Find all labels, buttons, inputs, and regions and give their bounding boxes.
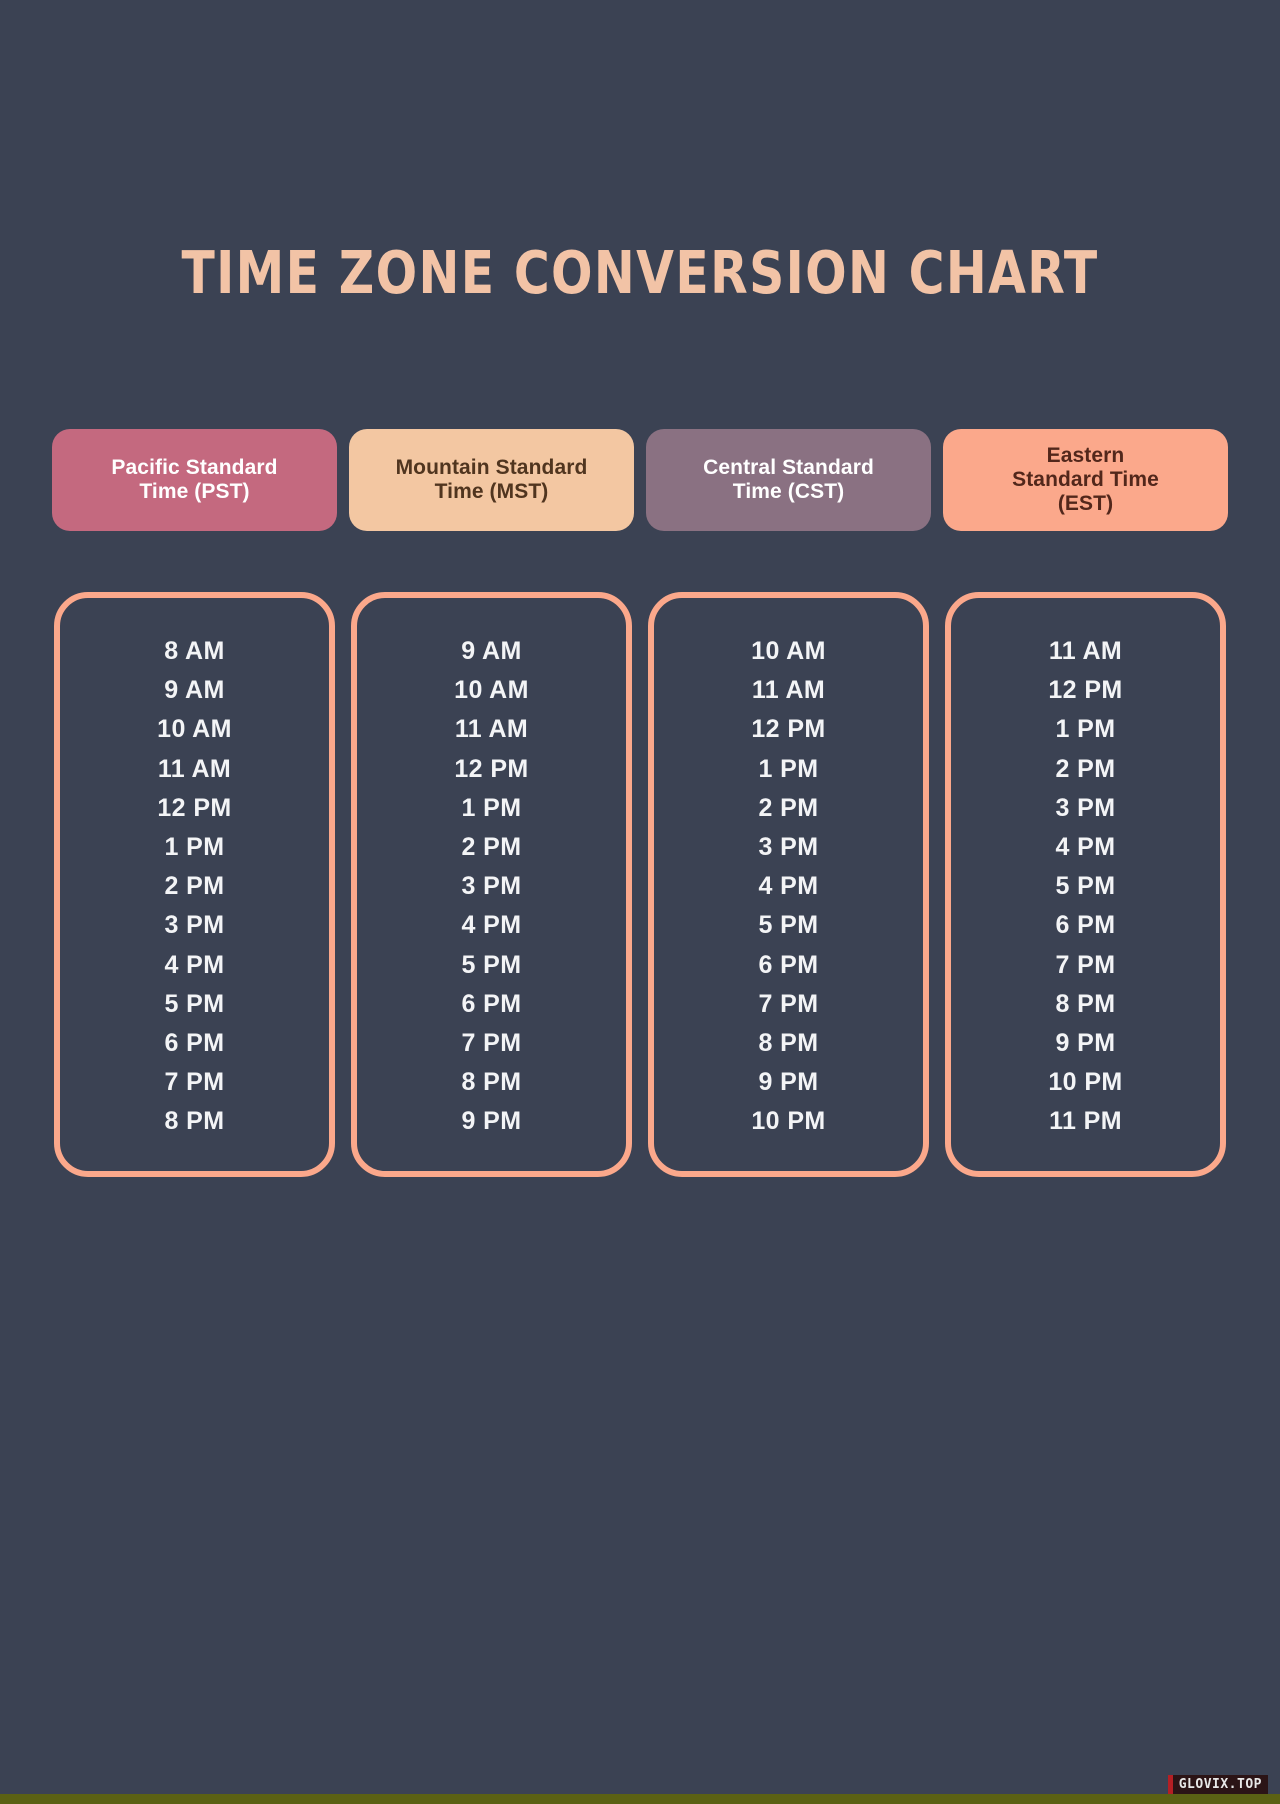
timezone-pill-line-1: Eastern bbox=[1012, 444, 1159, 468]
list-item: 11 AM bbox=[455, 710, 528, 749]
list-item: 8 PM bbox=[1056, 985, 1116, 1024]
list-item: 1 PM bbox=[462, 789, 522, 828]
list-item: 8 AM bbox=[164, 632, 224, 671]
list-item: 11 PM bbox=[1049, 1102, 1122, 1141]
timezone-time-list-cst: 10 AM11 AM12 PM1 PM2 PM3 PM4 PM5 PM6 PM7… bbox=[648, 592, 929, 1177]
timezone-time-list-est: 11 AM12 PM1 PM2 PM3 PM4 PM5 PM6 PM7 PM8 … bbox=[945, 592, 1226, 1177]
timezone-pill-est[interactable]: EasternStandard Time(EST) bbox=[943, 429, 1228, 531]
timezone-column-cell-pst: 8 AM9 AM10 AM11 AM12 PM1 PM2 PM3 PM4 PM5… bbox=[46, 592, 343, 1177]
timezone-header-cell-mst: Mountain StandardTime (MST) bbox=[343, 429, 640, 531]
timezone-header-cell-est: EasternStandard Time(EST) bbox=[937, 429, 1234, 531]
list-item: 8 PM bbox=[165, 1102, 225, 1141]
list-item: 1 PM bbox=[759, 750, 819, 789]
timezone-columns-row: 8 AM9 AM10 AM11 AM12 PM1 PM2 PM3 PM4 PM5… bbox=[46, 592, 1234, 1177]
list-item: 3 PM bbox=[759, 828, 819, 867]
timezone-header-cell-pst: Pacific StandardTime (PST) bbox=[46, 429, 343, 531]
bottom-strip bbox=[0, 1794, 1280, 1804]
timezone-time-list-mst: 9 AM10 AM11 AM12 PM1 PM2 PM3 PM4 PM5 PM6… bbox=[351, 592, 632, 1177]
poster-canvas: TIME ZONE CONVERSION CHART Pacific Stand… bbox=[0, 0, 1280, 1804]
list-item: 9 AM bbox=[164, 671, 224, 710]
list-item: 5 PM bbox=[759, 906, 819, 945]
list-item: 9 PM bbox=[759, 1063, 819, 1102]
timezone-pill-label: EasternStandard Time(EST) bbox=[1012, 444, 1159, 516]
list-item: 2 PM bbox=[165, 867, 225, 906]
list-item: 9 AM bbox=[461, 632, 521, 671]
timezone-header-row: Pacific StandardTime (PST)Mountain Stand… bbox=[46, 429, 1234, 531]
timezone-pill-pst[interactable]: Pacific StandardTime (PST) bbox=[52, 429, 337, 531]
timezone-column-cell-cst: 10 AM11 AM12 PM1 PM2 PM3 PM4 PM5 PM6 PM7… bbox=[640, 592, 937, 1177]
list-item: 11 AM bbox=[752, 671, 825, 710]
list-item: 6 PM bbox=[1056, 906, 1116, 945]
timezone-pill-line-2: Time (PST) bbox=[111, 480, 277, 504]
watermark-badge: GLOVIX.TOP bbox=[1168, 1775, 1268, 1794]
timezone-pill-label: Pacific StandardTime (PST) bbox=[111, 456, 277, 504]
list-item: 7 PM bbox=[462, 1024, 522, 1063]
list-item: 4 PM bbox=[759, 867, 819, 906]
timezone-pill-line-3: (EST) bbox=[1012, 492, 1159, 516]
timezone-column-cell-est: 11 AM12 PM1 PM2 PM3 PM4 PM5 PM6 PM7 PM8 … bbox=[937, 592, 1234, 1177]
list-item: 1 PM bbox=[1056, 710, 1116, 749]
list-item: 10 AM bbox=[454, 671, 529, 710]
timezone-pill-label: Mountain StandardTime (MST) bbox=[396, 456, 588, 504]
list-item: 10 PM bbox=[1048, 1063, 1122, 1102]
timezone-pill-line-1: Mountain Standard bbox=[396, 456, 588, 480]
list-item: 8 PM bbox=[462, 1063, 522, 1102]
list-item: 6 PM bbox=[462, 985, 522, 1024]
list-item: 4 PM bbox=[1056, 828, 1116, 867]
timezone-header-cell-cst: Central StandardTime (CST) bbox=[640, 429, 937, 531]
list-item: 1 PM bbox=[165, 828, 225, 867]
list-item: 7 PM bbox=[1056, 946, 1116, 985]
timezone-pill-label: Central StandardTime (CST) bbox=[703, 456, 874, 504]
list-item: 2 PM bbox=[462, 828, 522, 867]
list-item: 6 PM bbox=[759, 946, 819, 985]
list-item: 9 PM bbox=[462, 1102, 522, 1141]
list-item: 9 PM bbox=[1056, 1024, 1116, 1063]
list-item: 2 PM bbox=[759, 789, 819, 828]
timezone-pill-line-2: Time (MST) bbox=[396, 480, 588, 504]
list-item: 4 PM bbox=[165, 946, 225, 985]
timezone-pill-line-1: Pacific Standard bbox=[111, 456, 277, 480]
list-item: 5 PM bbox=[1056, 867, 1116, 906]
page-title: TIME ZONE CONVERSION CHART bbox=[51, 238, 1229, 307]
list-item: 12 PM bbox=[454, 750, 528, 789]
list-item: 6 PM bbox=[165, 1024, 225, 1063]
list-item: 3 PM bbox=[462, 867, 522, 906]
list-item: 3 PM bbox=[165, 906, 225, 945]
list-item: 12 PM bbox=[157, 789, 231, 828]
list-item: 12 PM bbox=[1048, 671, 1122, 710]
list-item: 10 AM bbox=[157, 710, 232, 749]
list-item: 5 PM bbox=[462, 946, 522, 985]
list-item: 4 PM bbox=[462, 906, 522, 945]
list-item: 10 PM bbox=[751, 1102, 825, 1141]
list-item: 7 PM bbox=[165, 1063, 225, 1102]
list-item: 3 PM bbox=[1056, 789, 1116, 828]
list-item: 11 AM bbox=[1049, 632, 1122, 671]
timezone-column-cell-mst: 9 AM10 AM11 AM12 PM1 PM2 PM3 PM4 PM5 PM6… bbox=[343, 592, 640, 1177]
list-item: 8 PM bbox=[759, 1024, 819, 1063]
list-item: 5 PM bbox=[165, 985, 225, 1024]
list-item: 12 PM bbox=[751, 710, 825, 749]
list-item: 11 AM bbox=[158, 750, 231, 789]
timezone-pill-line-1: Central Standard bbox=[703, 456, 874, 480]
list-item: 2 PM bbox=[1056, 750, 1116, 789]
timezone-pill-mst[interactable]: Mountain StandardTime (MST) bbox=[349, 429, 634, 531]
timezone-pill-line-2: Time (CST) bbox=[703, 480, 874, 504]
timezone-time-list-pst: 8 AM9 AM10 AM11 AM12 PM1 PM2 PM3 PM4 PM5… bbox=[54, 592, 335, 1177]
timezone-pill-cst[interactable]: Central StandardTime (CST) bbox=[646, 429, 931, 531]
list-item: 10 AM bbox=[751, 632, 826, 671]
timezone-pill-line-2: Standard Time bbox=[1012, 468, 1159, 492]
list-item: 7 PM bbox=[759, 985, 819, 1024]
